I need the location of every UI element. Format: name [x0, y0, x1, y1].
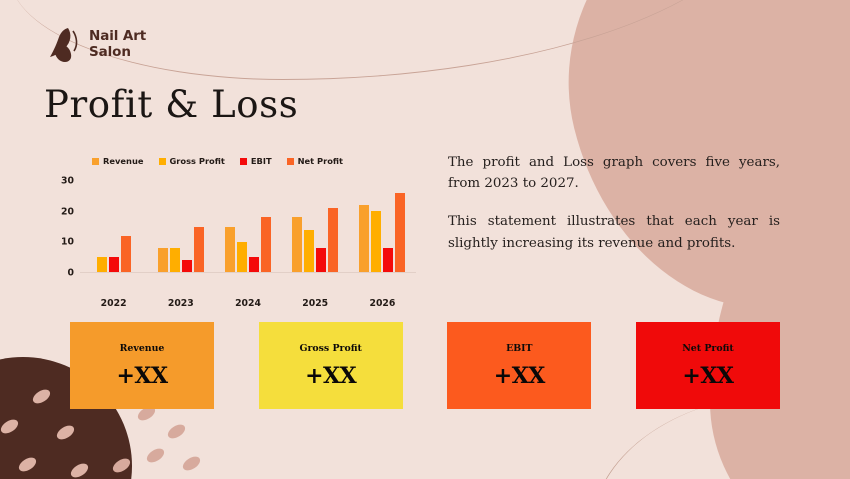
chart-legend: RevenueGross ProfitEBITNet Profit [36, 150, 416, 172]
kpi-card-value: +XX [682, 363, 733, 389]
kpi-card[interactable]: EBIT+XX [447, 322, 591, 409]
chart-bar[interactable] [109, 257, 119, 272]
chart-bar[interactable] [121, 236, 131, 272]
chart-bar[interactable] [371, 211, 381, 272]
legend-swatch-icon [92, 158, 99, 165]
legend-swatch-icon [240, 158, 247, 165]
bar-group [147, 175, 214, 272]
bar-group [349, 175, 416, 272]
chart-bar[interactable] [316, 248, 326, 272]
legend-item[interactable]: Revenue [92, 156, 144, 166]
butterfly-logo-icon [47, 26, 80, 63]
kpi-card[interactable]: Net Profit+XX [636, 322, 780, 409]
decorative-dot [181, 454, 203, 473]
legend-item[interactable]: EBIT [240, 156, 272, 166]
kpi-card[interactable]: Revenue+XX [70, 322, 214, 409]
y-axis-tick-label: 10 [61, 237, 74, 248]
brand-name: Nail Art Salon [89, 29, 146, 61]
legend-label: EBIT [251, 156, 272, 166]
legend-swatch-icon [159, 158, 166, 165]
chart-plot-area: 0102030 20222023202420252026 [36, 175, 416, 273]
x-axis-tick-label: 2023 [147, 298, 214, 309]
chart-bar[interactable] [97, 257, 107, 272]
kpi-card-label: EBIT [506, 343, 532, 354]
chart-bar[interactable] [395, 193, 405, 272]
kpi-card-label: Revenue [120, 343, 165, 354]
chart-bars-area [80, 175, 416, 273]
y-axis-tick-label: 0 [68, 268, 74, 279]
chart-bar[interactable] [170, 248, 180, 272]
chart-bar[interactable] [261, 217, 271, 272]
legend-label: Revenue [103, 156, 144, 166]
chart-bar[interactable] [225, 227, 235, 272]
kpi-card-value: +XX [305, 363, 356, 389]
x-axis-tick-label: 2026 [349, 298, 416, 309]
chart-bar[interactable] [304, 230, 314, 272]
kpi-card-label: Net Profit [682, 343, 734, 354]
y-axis-tick-label: 20 [61, 206, 74, 217]
kpi-card-value: +XX [116, 363, 167, 389]
description-paragraph: This statement illustrates that each yea… [448, 211, 780, 253]
kpi-card-value: +XX [494, 363, 545, 389]
bar-group [214, 175, 281, 272]
brand-name-line2: Salon [89, 45, 146, 61]
chart-x-axis: 20222023202420252026 [80, 298, 416, 309]
bar-group [80, 175, 147, 272]
chart-bar[interactable] [158, 248, 168, 272]
bar-group [282, 175, 349, 272]
page-title: Profit & Loss [44, 83, 298, 126]
legend-swatch-icon [287, 158, 294, 165]
brand-name-line1: Nail Art [89, 29, 146, 45]
description-paragraph: The profit and Loss graph covers five ye… [448, 152, 780, 194]
brand-logo: Nail Art Salon [47, 26, 146, 63]
description-text: The profit and Loss graph covers five ye… [448, 152, 780, 254]
x-axis-tick-label: 2024 [214, 298, 281, 309]
chart-bar[interactable] [328, 208, 338, 272]
legend-item[interactable]: Net Profit [287, 156, 343, 166]
chart-bar[interactable] [249, 257, 259, 272]
chart-bar[interactable] [194, 227, 204, 272]
chart-bar[interactable] [237, 242, 247, 272]
kpi-card-label: Gross Profit [299, 343, 361, 354]
legend-label: Net Profit [298, 156, 343, 166]
decorative-dot [145, 446, 167, 465]
profit-loss-bar-chart: RevenueGross ProfitEBITNet Profit 010203… [36, 150, 416, 300]
x-axis-tick-label: 2025 [282, 298, 349, 309]
x-axis-tick-label: 2022 [80, 298, 147, 309]
decorative-dot [166, 422, 188, 441]
kpi-card-row: Revenue+XXGross Profit+XXEBIT+XXNet Prof… [70, 322, 780, 409]
chart-bar[interactable] [383, 248, 393, 272]
chart-bar[interactable] [182, 260, 192, 272]
kpi-card[interactable]: Gross Profit+XX [259, 322, 403, 409]
chart-bar[interactable] [292, 217, 302, 272]
legend-label: Gross Profit [170, 156, 225, 166]
chart-bar[interactable] [359, 205, 369, 272]
slide-canvas: Nail Art Salon Profit & Loss RevenueGros… [0, 0, 850, 479]
chart-y-axis: 0102030 [36, 175, 74, 273]
legend-item[interactable]: Gross Profit [159, 156, 225, 166]
y-axis-tick-label: 30 [61, 176, 74, 187]
